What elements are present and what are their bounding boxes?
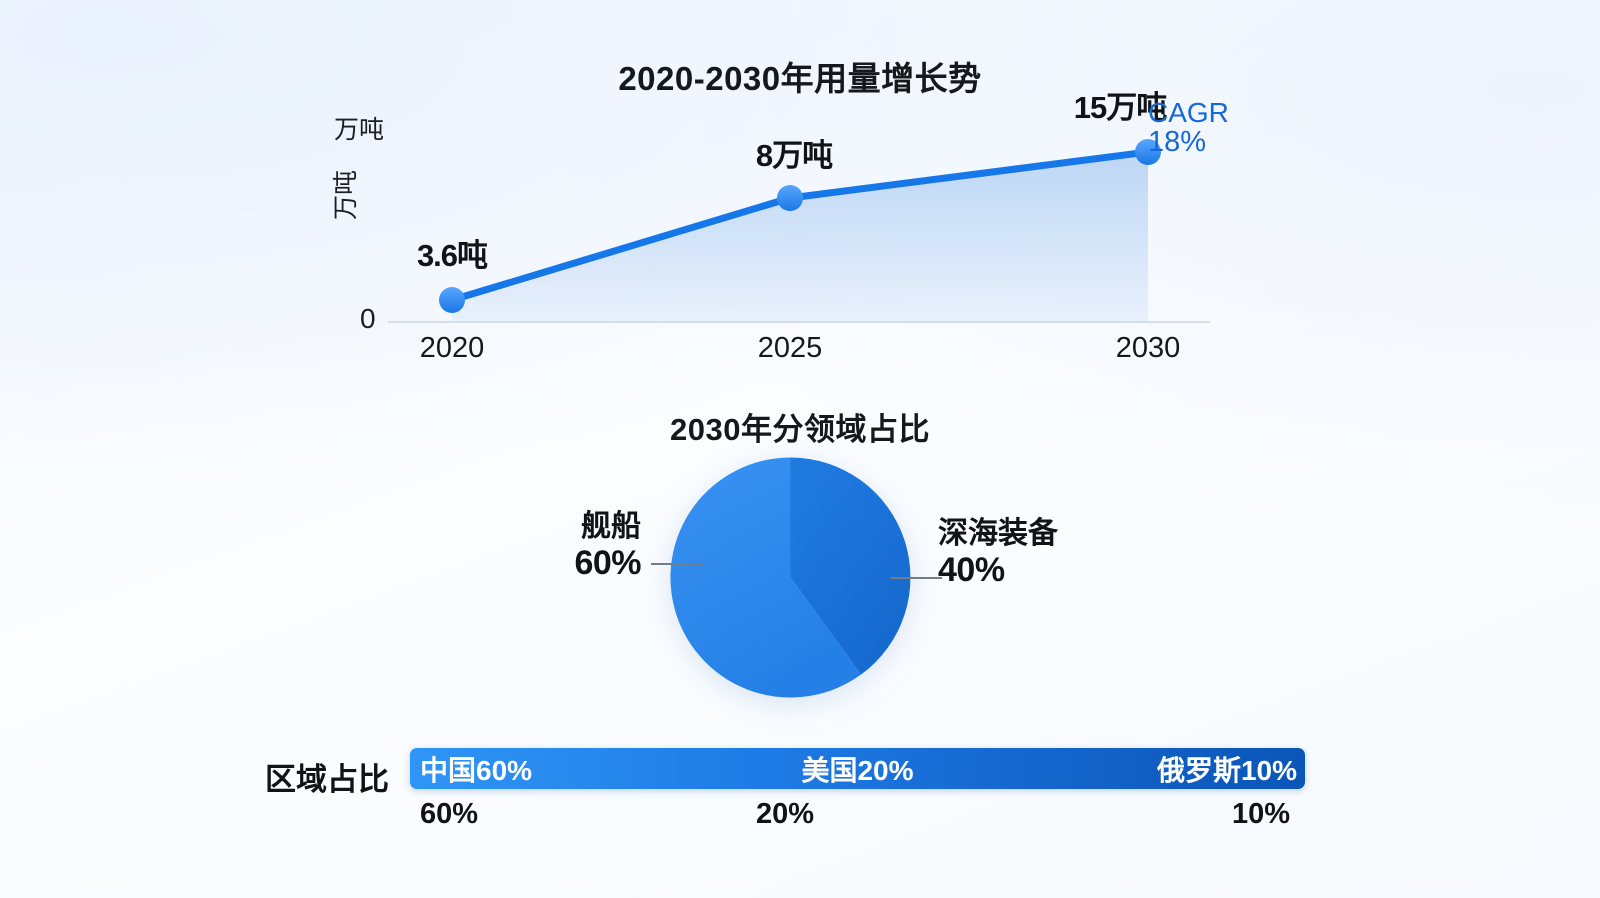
x-tick-2020: 2020 <box>420 332 485 365</box>
pie-chart-title: 2030年分领域占比 <box>0 404 1600 449</box>
cagr-key-label: CAGR <box>1148 98 1256 127</box>
region-percent-usa: 20% <box>265 798 1305 831</box>
pie-chart: 舰船 60% 深海装备 40% <box>486 455 1114 700</box>
x-tick-2025: 2025 <box>758 332 823 365</box>
pie-label-ships: 舰船 60% <box>486 510 641 582</box>
region-segment-russia[interactable]: 俄罗斯10% <box>1157 748 1297 789</box>
cagr-value-label: 18% <box>1148 127 1256 157</box>
x-tick-2030: 2030 <box>1116 332 1181 365</box>
pie-leader-line-right <box>890 577 942 579</box>
line-chart: 万吨 万吨 0 <box>330 100 1210 375</box>
pie-label-ships-category: 舰船 <box>486 510 641 544</box>
data-label-2020: 3.6吨 <box>417 230 487 275</box>
cagr-annotation: CAGR 18% <box>1148 98 1256 158</box>
line-marker-2020[interactable] <box>439 287 465 313</box>
region-share-section: 区域占比 中国60% 美国20% 俄罗斯10% 60% 20% 10% <box>265 748 1305 842</box>
pie-label-deep-sea: 深海装备 40% <box>938 517 1114 589</box>
region-share-label: 区域占比 <box>265 754 389 799</box>
region-share-bar[interactable]: 中国60% 美国20% 俄罗斯10% <box>410 748 1305 789</box>
pie-label-deep-sea-percent: 40% <box>938 551 1114 589</box>
region-percent-russia: 10% <box>1232 798 1290 831</box>
pie-chart-plot <box>668 455 913 700</box>
line-area-fill <box>452 152 1148 322</box>
line-chart-title: 2020-2030年用量增长势 <box>0 52 1600 100</box>
line-marker-2025[interactable] <box>777 185 803 211</box>
pie-leader-line-left <box>651 563 703 565</box>
pie-label-ships-percent: 60% <box>486 544 641 582</box>
infographic-canvas: 2020-2030年用量增长势 万吨 万吨 0 <box>0 0 1600 898</box>
data-label-2025: 8万吨 <box>756 130 832 175</box>
pie-label-deep-sea-category: 深海装备 <box>938 517 1114 551</box>
